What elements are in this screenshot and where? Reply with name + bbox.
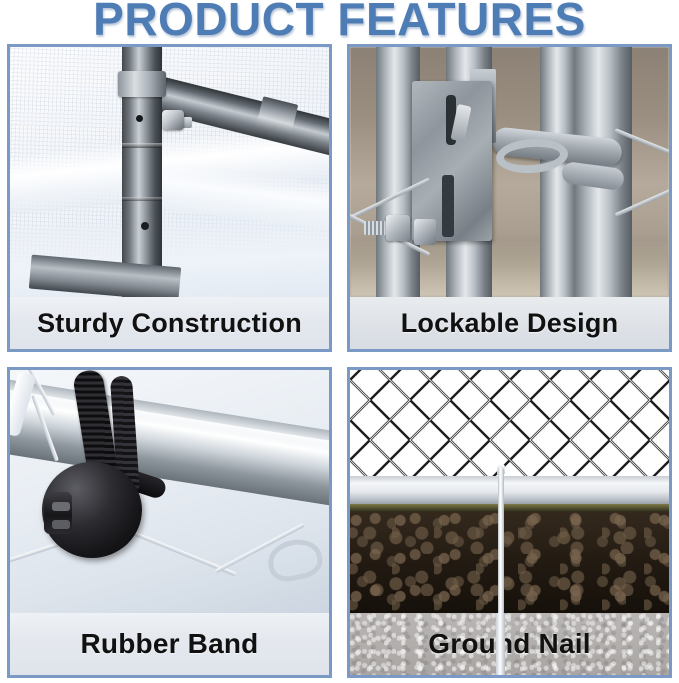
- pipe-hole-upper: [136, 115, 143, 122]
- ground-nail-shaft: [498, 468, 504, 613]
- feature-grid: Sturdy Construction: [0, 0, 679, 683]
- rubber-ball-groove-upper: [52, 502, 70, 511]
- chain-link-mesh-icon: [350, 370, 669, 476]
- feature-label-ground-nail: Ground Nail: [428, 628, 590, 660]
- feature-label-lockable-design: Lockable Design: [401, 308, 619, 339]
- feature-label-sturdy-construction: Sturdy Construction: [37, 308, 302, 339]
- feature-card-sturdy-construction[interactable]: Sturdy Construction: [7, 44, 332, 352]
- feature-label-band-ground-nail: Ground Nail: [350, 613, 669, 675]
- grass-line: [350, 504, 669, 512]
- feature-label-rubber-band: Rubber Band: [81, 628, 259, 660]
- rubber-ball-groove-lower: [52, 520, 70, 529]
- feature-card-lockable-design[interactable]: Lockable Design: [347, 44, 672, 352]
- feature-label-band-sturdy-construction: Sturdy Construction: [10, 297, 329, 349]
- feature-photo-ground-nail: [350, 370, 669, 613]
- feature-photo-lockable-design: [350, 47, 669, 297]
- hex-nut-inner: [414, 219, 436, 245]
- hex-nut-outer: [386, 215, 410, 241]
- feature-card-ground-nail[interactable]: Ground Nail: [347, 367, 672, 678]
- pipe-seam-upper: [122, 143, 162, 148]
- pipe-seam-lower: [122, 197, 162, 201]
- ground-nail-shaft-lower: [496, 613, 505, 675]
- pipe-collar: [118, 71, 166, 97]
- feature-label-band-rubber-band: Rubber Band: [10, 613, 329, 675]
- feature-photo-rubber-band: [10, 370, 329, 613]
- feature-label-band-lockable-design: Lockable Design: [350, 297, 669, 349]
- feature-photo-sturdy-construction: [10, 47, 329, 297]
- feature-card-rubber-band[interactable]: Rubber Band: [7, 367, 332, 678]
- bolt-thread: [364, 221, 388, 235]
- hex-bolt: [162, 110, 184, 130]
- bottom-rail: [350, 476, 669, 504]
- latch-slot-lower: [442, 175, 454, 237]
- pipe-hole-lower: [141, 222, 149, 230]
- soil-cross-section: [350, 512, 669, 613]
- chain-link-mesh: [350, 370, 669, 476]
